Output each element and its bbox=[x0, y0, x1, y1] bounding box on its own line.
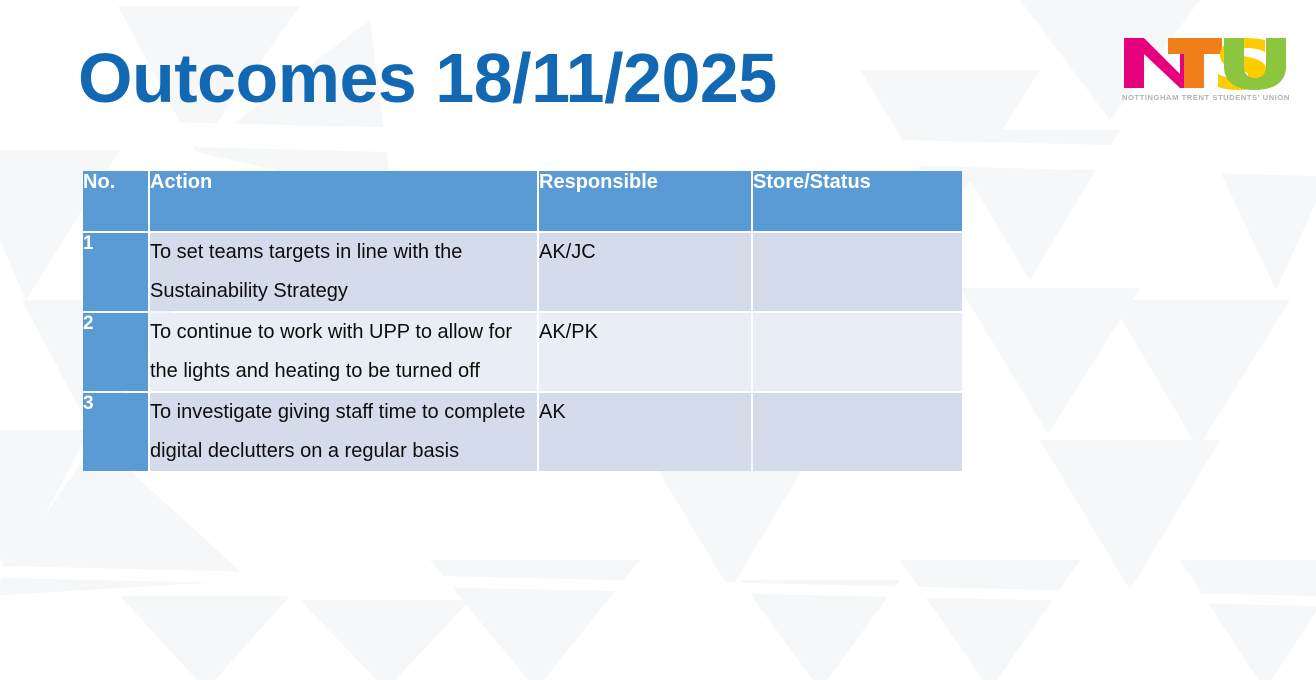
cell-action: To continue to work with UPP to allow fo… bbox=[150, 313, 537, 391]
cell-no: 2 bbox=[83, 313, 148, 391]
slide-content: Outcomes 18/11/2025 NOTTINGHAM TRENT STU… bbox=[0, 0, 1316, 680]
table-header: No. Action Responsible Store/Status bbox=[83, 171, 962, 231]
cell-store-status bbox=[753, 233, 962, 311]
table-row: 3 To investigate giving staff time to co… bbox=[83, 393, 962, 471]
cell-responsible: AK/PK bbox=[539, 313, 751, 391]
logo-tagline: NOTTINGHAM TRENT STUDENTS' UNION bbox=[1122, 93, 1290, 102]
table-header-row: No. Action Responsible Store/Status bbox=[83, 171, 962, 231]
table-row: 2 To continue to work with UPP to allow … bbox=[83, 313, 962, 391]
page-title: Outcomes 18/11/2025 bbox=[78, 38, 777, 118]
table-body: 1 To set teams targets in line with the … bbox=[83, 233, 962, 471]
cell-no: 3 bbox=[83, 393, 148, 471]
ntsu-logo: NOTTINGHAM TRENT STUDENTS' UNION bbox=[1118, 30, 1290, 102]
column-header-action[interactable]: Action bbox=[150, 171, 537, 231]
cell-responsible: AK/JC bbox=[539, 233, 751, 311]
column-header-store-status[interactable]: Store/Status bbox=[753, 171, 962, 231]
ntsu-logo-icon: NOTTINGHAM TRENT STUDENTS' UNION bbox=[1118, 30, 1290, 102]
cell-action: To investigate giving staff time to comp… bbox=[150, 393, 537, 471]
table-row: 1 To set teams targets in line with the … bbox=[83, 233, 962, 311]
cell-no: 1 bbox=[83, 233, 148, 311]
cell-store-status bbox=[753, 393, 962, 471]
column-header-no[interactable]: No. bbox=[83, 171, 148, 231]
column-header-responsible[interactable]: Responsible bbox=[539, 171, 751, 231]
cell-store-status bbox=[753, 313, 962, 391]
cell-action: To set teams targets in line with the Su… bbox=[150, 233, 537, 311]
actions-table: No. Action Responsible Store/Status 1 To… bbox=[81, 169, 964, 473]
cell-responsible: AK bbox=[539, 393, 751, 471]
